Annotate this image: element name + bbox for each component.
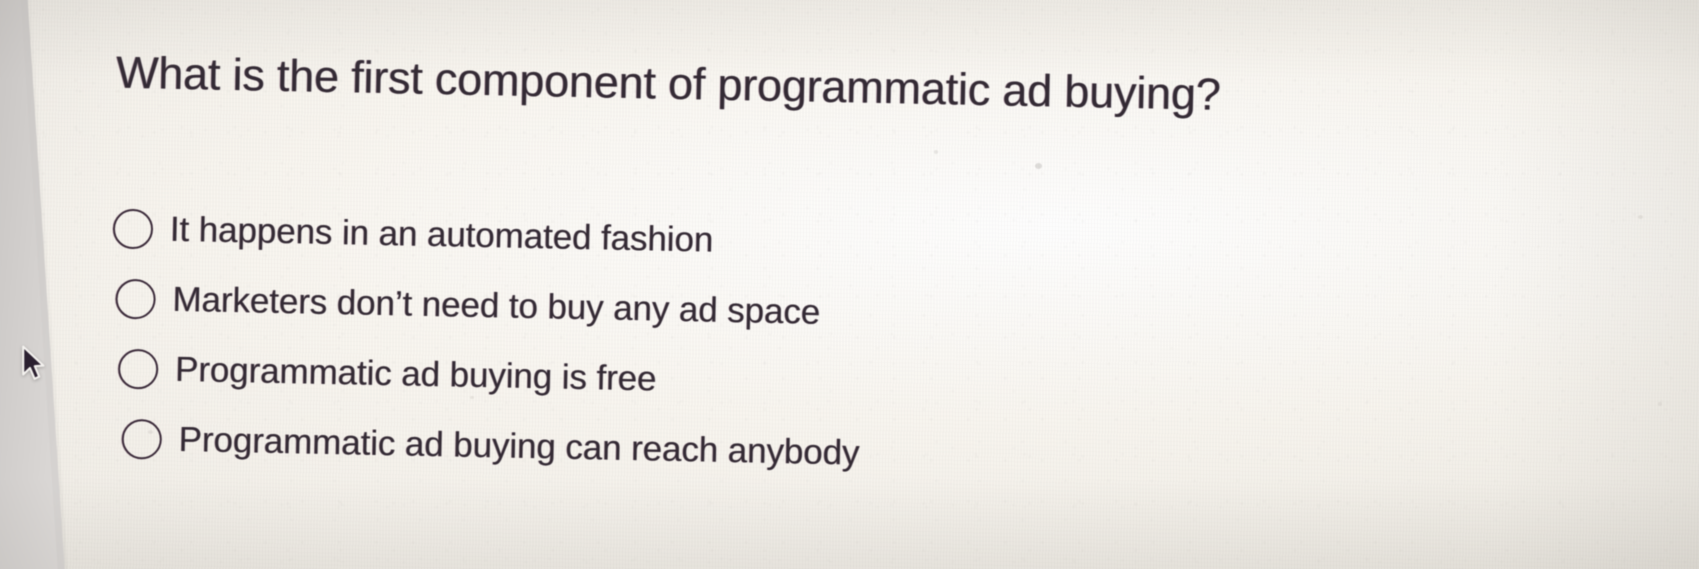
option-label: Programmatic ad buying is free	[175, 350, 657, 400]
options-list: It happens in an automated fashion Marke…	[108, 194, 1413, 500]
radio-button-icon[interactable]	[113, 209, 154, 250]
quiz-content: What is the first component of programma…	[0, 0, 1699, 569]
radio-button-icon[interactable]	[115, 279, 156, 320]
option-label: Marketers don’t need to buy any ad space	[172, 280, 820, 333]
screenshot-photo: What is the first component of programma…	[0, 0, 1699, 569]
question-title: What is the first component of programma…	[116, 47, 1467, 126]
option-label: It happens in an automated fashion	[170, 210, 714, 261]
option-label: Programmatic ad buying can reach anybody	[178, 420, 859, 474]
radio-button-icon[interactable]	[121, 419, 162, 460]
radio-button-icon[interactable]	[118, 349, 159, 390]
